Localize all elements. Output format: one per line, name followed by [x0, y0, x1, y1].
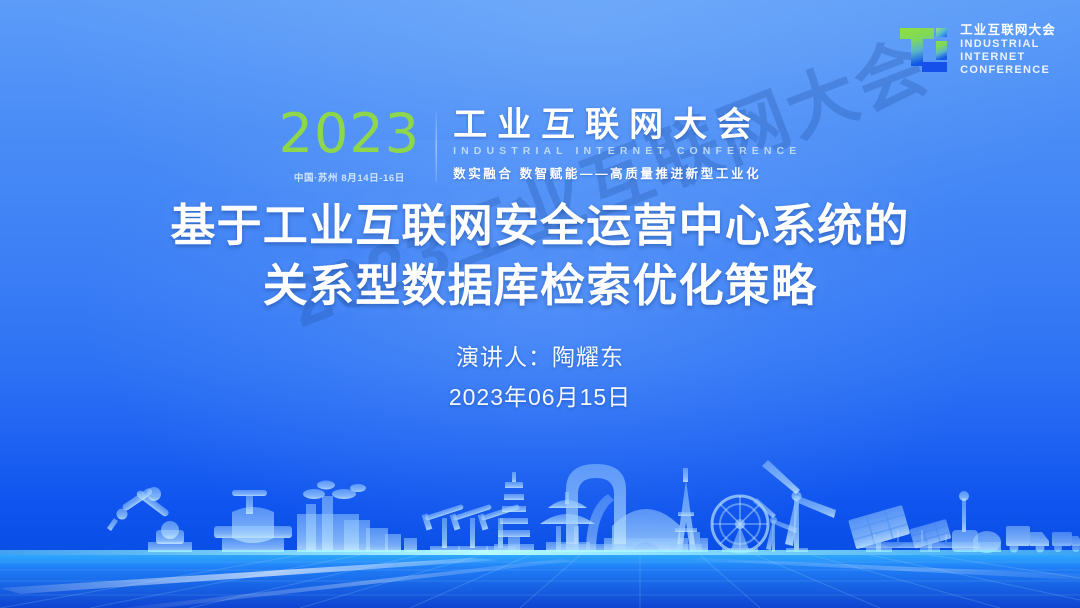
presenter-name: 演讲人：陶耀东 — [0, 338, 1080, 378]
title-slide: 2023工业互联网大会 — [0, 0, 1080, 608]
gate-of-the-orient-icon — [558, 464, 634, 552]
skyline-scene — [0, 438, 1080, 608]
title-line-1: 基于工业互联网安全运营中心系统的 — [0, 196, 1080, 256]
brand-name-en-line3: CONFERENCE — [960, 64, 1056, 77]
brand-wordmark: 工业互联网大会 INDUSTRIAL INTERNET CONFERENCE — [960, 23, 1056, 77]
presentation-date: 2023年06月15日 — [0, 378, 1080, 418]
truck-icon — [1052, 532, 1080, 552]
page-title: 基于工业互联网安全运营中心系统的 关系型数据库检索优化策略 — [0, 196, 1080, 316]
lockup-right: 工业互联网大会 INDUSTRIAL INTERNET CONFERENCE 数… — [437, 108, 801, 182]
lockup-location-date: 中国·苏州 8月14日-16日 — [294, 170, 405, 184]
horizon-line — [0, 550, 1080, 555]
factory-smokestack-icon — [297, 481, 417, 553]
brand-logo: 工业互联网大会 INDUSTRIAL INTERNET CONFERENCE — [898, 22, 1056, 78]
title-line-2: 关系型数据库检索优化策略 — [0, 256, 1080, 316]
lockup-left: 2023 中国·苏州 8月14日-16日 — [279, 108, 436, 184]
lockup-name-en: INDUSTRIAL INTERNET CONFERENCE — [453, 145, 801, 157]
industrial-valve-icon — [214, 490, 292, 552]
brand-name-cn: 工业互联网大会 — [960, 23, 1056, 38]
lockup-slogan: 数实融合 数智赋能——高质量推进新型工业化 — [453, 163, 801, 182]
lockup-year: 2023 — [279, 108, 420, 161]
lockup-name-cn: 工业互联网大会 — [453, 108, 801, 143]
robot-arm-icon — [107, 487, 192, 552]
it-monogram-logo-icon — [898, 22, 950, 78]
truck-icon — [1006, 526, 1049, 553]
presenter-block: 演讲人：陶耀东 2023年06月15日 — [0, 338, 1080, 417]
conference-lockup: 2023 中国·苏州 8月14日-16日 工业互联网大会 INDUSTRIAL … — [279, 108, 802, 184]
brand-name-en-line2: INTERNET — [960, 51, 1056, 64]
brand-name-en-line1: INDUSTRIAL — [960, 38, 1056, 51]
